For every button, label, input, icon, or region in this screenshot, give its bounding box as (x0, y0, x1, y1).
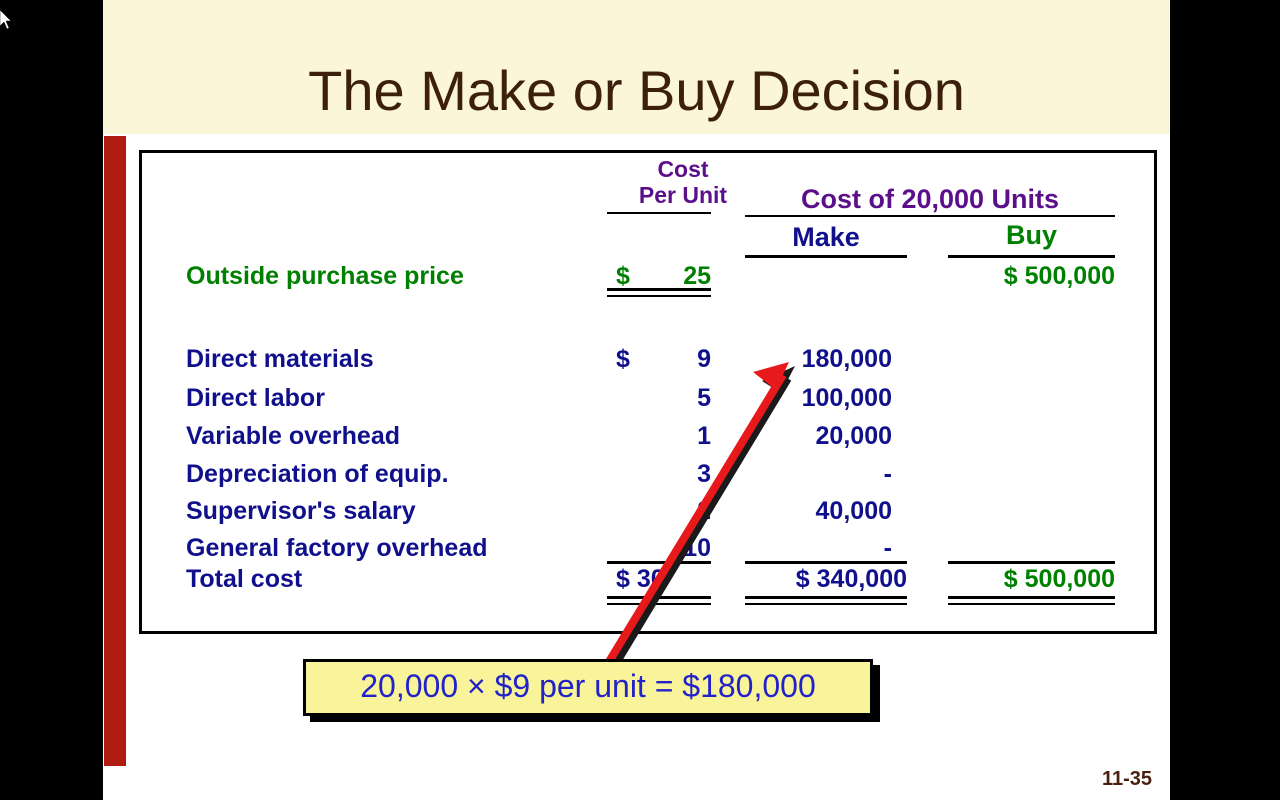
header-cost-line2: Per Unit (608, 182, 758, 209)
per-unit-header-rule (607, 212, 711, 214)
buy-header-rule (948, 255, 1115, 258)
buy-total-rule-bottom-2 (948, 603, 1115, 605)
row-make-general-factory-overhead: - (745, 534, 892, 563)
row-buy-outside-purchase-price: $ 500,000 (948, 262, 1115, 291)
make-header-rule (745, 255, 907, 258)
row-per-unit-variable-overhead: 1 (616, 422, 711, 451)
row-make-direct-materials: 180,000 (745, 345, 892, 374)
cost-of-units-rule (745, 215, 1115, 217)
row-per-unit-supervisors-salary: 2 (616, 497, 711, 526)
slide-root: The Make or Buy Decision Cost Per Unit C… (0, 0, 1280, 800)
row-label-variable-overhead: Variable overhead (186, 422, 400, 451)
per-unit-total-rule-bottom-1 (607, 596, 711, 599)
row-buy-total-cost: $ 500,000 (948, 565, 1115, 594)
row-label-depreciation-of-equip: Depreciation of equip. (186, 460, 449, 489)
accent-bar (104, 136, 126, 766)
callout-text: 20,000 × $9 per unit = $180,000 (303, 668, 873, 705)
make-total-rule-bottom-1 (745, 596, 907, 599)
page-number: 11-35 (1102, 768, 1152, 791)
per-unit-price-rule-top (607, 288, 711, 291)
header-cost-line1: Cost (628, 156, 738, 183)
row-make-supervisors-salary: 40,000 (745, 497, 892, 526)
row-make-variable-overhead: 20,000 (745, 422, 892, 451)
row-label-supervisors-salary: Supervisor's salary (186, 497, 416, 526)
make-total-rule-top (745, 561, 907, 564)
mouse-cursor-icon (0, 10, 14, 32)
row-per-unit-direct-materials: 9 (616, 345, 711, 374)
header-make: Make (745, 222, 907, 253)
cost-table: Cost Per Unit Cost of 20,000 Units Make … (139, 150, 1157, 634)
row-per-unit-outside-purchase-price: 25 (616, 262, 711, 291)
row-label-direct-labor: Direct labor (186, 384, 325, 413)
row-per-unit-general-factory-overhead: 10 (616, 534, 711, 563)
row-per-unit-depreciation-of-equip: 3 (616, 460, 711, 489)
row-label-direct-materials: Direct materials (186, 345, 374, 374)
row-make-total-cost: $ 340,000 (745, 565, 907, 594)
row-per-unit-total-cost: $ 30 (616, 565, 665, 594)
page-title: The Make or Buy Decision (103, 58, 1170, 123)
per-unit-price-rule-bottom (607, 295, 711, 297)
row-make-depreciation-of-equip: - (745, 460, 892, 489)
buy-total-rule-top (948, 561, 1115, 564)
header-buy: Buy (948, 220, 1115, 251)
row-label-outside-purchase-price: Outside purchase price (186, 262, 464, 291)
row-label-general-factory-overhead: General factory overhead (186, 534, 488, 563)
buy-total-rule-bottom-1 (948, 596, 1115, 599)
per-unit-total-rule-top (607, 561, 711, 564)
row-per-unit-direct-labor: 5 (616, 384, 711, 413)
make-total-rule-bottom-2 (745, 603, 907, 605)
row-label-total-cost: Total cost (186, 565, 302, 594)
row-make-direct-labor: 100,000 (745, 384, 892, 413)
header-cost-of-units: Cost of 20,000 Units (745, 184, 1115, 215)
per-unit-total-rule-bottom-2 (607, 603, 711, 605)
